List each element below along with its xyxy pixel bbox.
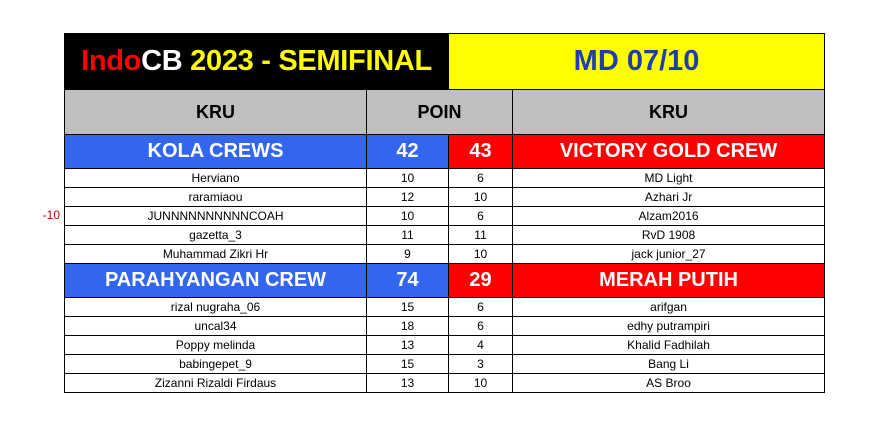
away-player-points: 10 [449,374,513,393]
home-team-name: PARAHYANGAN CREW [65,264,367,298]
home-player-points: 9 [367,245,449,264]
column-header-poin: POIN [367,90,513,135]
home-player-name: gazetta_3 [65,226,367,245]
event-title-cb: CB [141,45,182,77]
home-player-points: 18 [367,317,449,336]
away-player-name: edhy putrampiri [513,317,825,336]
away-team-name: MERAH PUTIH [513,264,825,298]
home-player-name: rizal nugraha_06 [65,298,367,317]
table-row: JUNNNNNNNNNNCOAH 10 6 Alzam2016 [65,207,825,226]
home-player-points: 13 [367,336,449,355]
away-player-name: Bang Li [513,355,825,374]
away-player-name: Azhari Jr [513,188,825,207]
away-player-points: 6 [449,207,513,226]
scoreboard-table: IndoCB 2023 - SEMIFINAL MD 07/10 KRU POI… [64,33,825,393]
home-player-points: 10 [367,169,449,188]
table-row: gazetta_3 11 11 RvD 1908 [65,226,825,245]
matchday-cell: MD 07/10 [449,34,825,90]
away-player-name: MD Light [513,169,825,188]
away-team-score: 43 [449,135,513,169]
home-player-points: 15 [367,355,449,374]
away-player-points: 6 [449,169,513,188]
table-row: Poppy melinda 13 4 Khalid Fadhilah [65,336,825,355]
away-player-points: 4 [449,336,513,355]
away-player-name: Khalid Fadhilah [513,336,825,355]
table-row: Zizanni Rizaldi Firdaus 13 10 AS Broo [65,374,825,393]
home-player-name: JUNNNNNNNNNNCOAH [65,207,367,226]
title-row: IndoCB 2023 - SEMIFINAL MD 07/10 [65,34,825,90]
match-banner-row: KOLA CREWS 42 43 VICTORY GOLD CREW [65,135,825,169]
home-team-score: 42 [367,135,449,169]
away-player-points: 10 [449,245,513,264]
away-player-name: Alzam2016 [513,207,825,226]
table-row: raramiaou 12 10 Azhari Jr [65,188,825,207]
home-player-name: Poppy melinda [65,336,367,355]
table-row: uncal34 18 6 edhy putrampiri [65,317,825,336]
table-row: rizal nugraha_06 15 6 arifgan [65,298,825,317]
away-player-name: jack junior_27 [513,245,825,264]
home-player-name: uncal34 [65,317,367,336]
home-player-points: 12 [367,188,449,207]
table-row: Muhammad Zikri Hr 9 10 jack junior_27 [65,245,825,264]
home-team-score: 74 [367,264,449,298]
away-team-score: 29 [449,264,513,298]
away-player-points: 10 [449,188,513,207]
away-player-name: RvD 1908 [513,226,825,245]
away-player-points: 6 [449,298,513,317]
home-player-name: babingepet_9 [65,355,367,374]
home-player-points: 15 [367,298,449,317]
away-player-name: AS Broo [513,374,825,393]
column-header-kru-left: KRU [65,90,367,135]
away-player-points: 11 [449,226,513,245]
home-player-points: 10 [367,207,449,226]
away-team-name: VICTORY GOLD CREW [513,135,825,169]
event-title-cell: IndoCB 2023 - SEMIFINAL [65,34,449,90]
home-player-name: Muhammad Zikri Hr [65,245,367,264]
table-row: Herviano 10 6 MD Light [65,169,825,188]
home-player-name: Herviano [65,169,367,188]
event-title: IndoCB 2023 - SEMIFINAL [81,45,432,77]
matchday-label: MD 07/10 [574,45,700,77]
column-header-kru-right: KRU [513,90,825,135]
away-player-points: 3 [449,355,513,374]
penalty-annotation: -10 [20,209,60,221]
event-title-indo: Indo [81,45,141,77]
home-player-name: Zizanni Rizaldi Firdaus [65,374,367,393]
away-player-name: arifgan [513,298,825,317]
home-player-points: 11 [367,226,449,245]
away-player-points: 6 [449,317,513,336]
home-player-points: 13 [367,374,449,393]
event-title-rest: 2023 - SEMIFINAL [182,45,432,77]
home-team-name: KOLA CREWS [65,135,367,169]
column-header-row: KRU POIN KRU [65,90,825,135]
scoreboard-panel: IndoCB 2023 - SEMIFINAL MD 07/10 KRU POI… [64,33,824,387]
match-banner-row: PARAHYANGAN CREW 74 29 MERAH PUTIH [65,264,825,298]
table-row: babingepet_9 15 3 Bang Li [65,355,825,374]
scoreboard-body: IndoCB 2023 - SEMIFINAL MD 07/10 KRU POI… [65,34,825,393]
home-player-name: raramiaou [65,188,367,207]
